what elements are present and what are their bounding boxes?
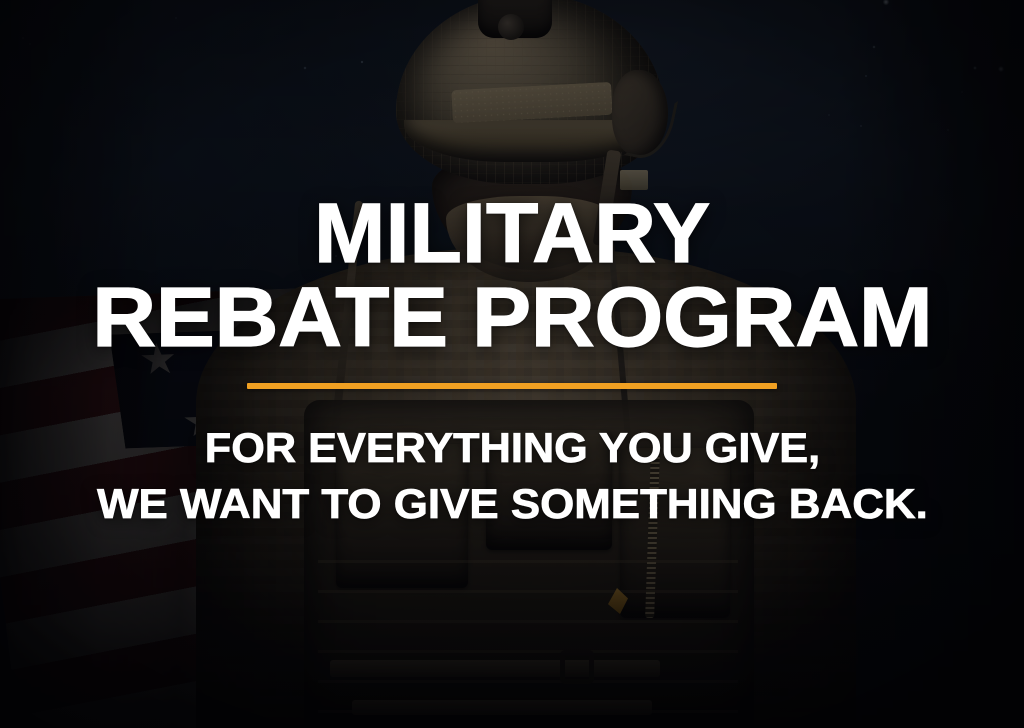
banner-subtitle: FOR EVERYTHING YOU GIVE, WE WANT TO GIVE… xyxy=(115,425,910,527)
headline-line-2: REBATE PROGRAM xyxy=(92,280,932,356)
subtitle-line-1: FOR EVERYTHING YOU GIVE, xyxy=(103,425,922,471)
orange-divider xyxy=(247,383,777,389)
military-rebate-banner: MILITARY REBATE PROGRAM FOR EVERYTHING Y… xyxy=(0,0,1024,728)
headline-line-1: MILITARY xyxy=(106,196,918,272)
subtitle-line-2: WE WANT TO GIVE SOMETHING BACK. xyxy=(97,481,928,527)
page-title: MILITARY REBATE PROGRAM xyxy=(114,0,910,355)
banner-content: MILITARY REBATE PROGRAM FOR EVERYTHING Y… xyxy=(0,0,1024,728)
